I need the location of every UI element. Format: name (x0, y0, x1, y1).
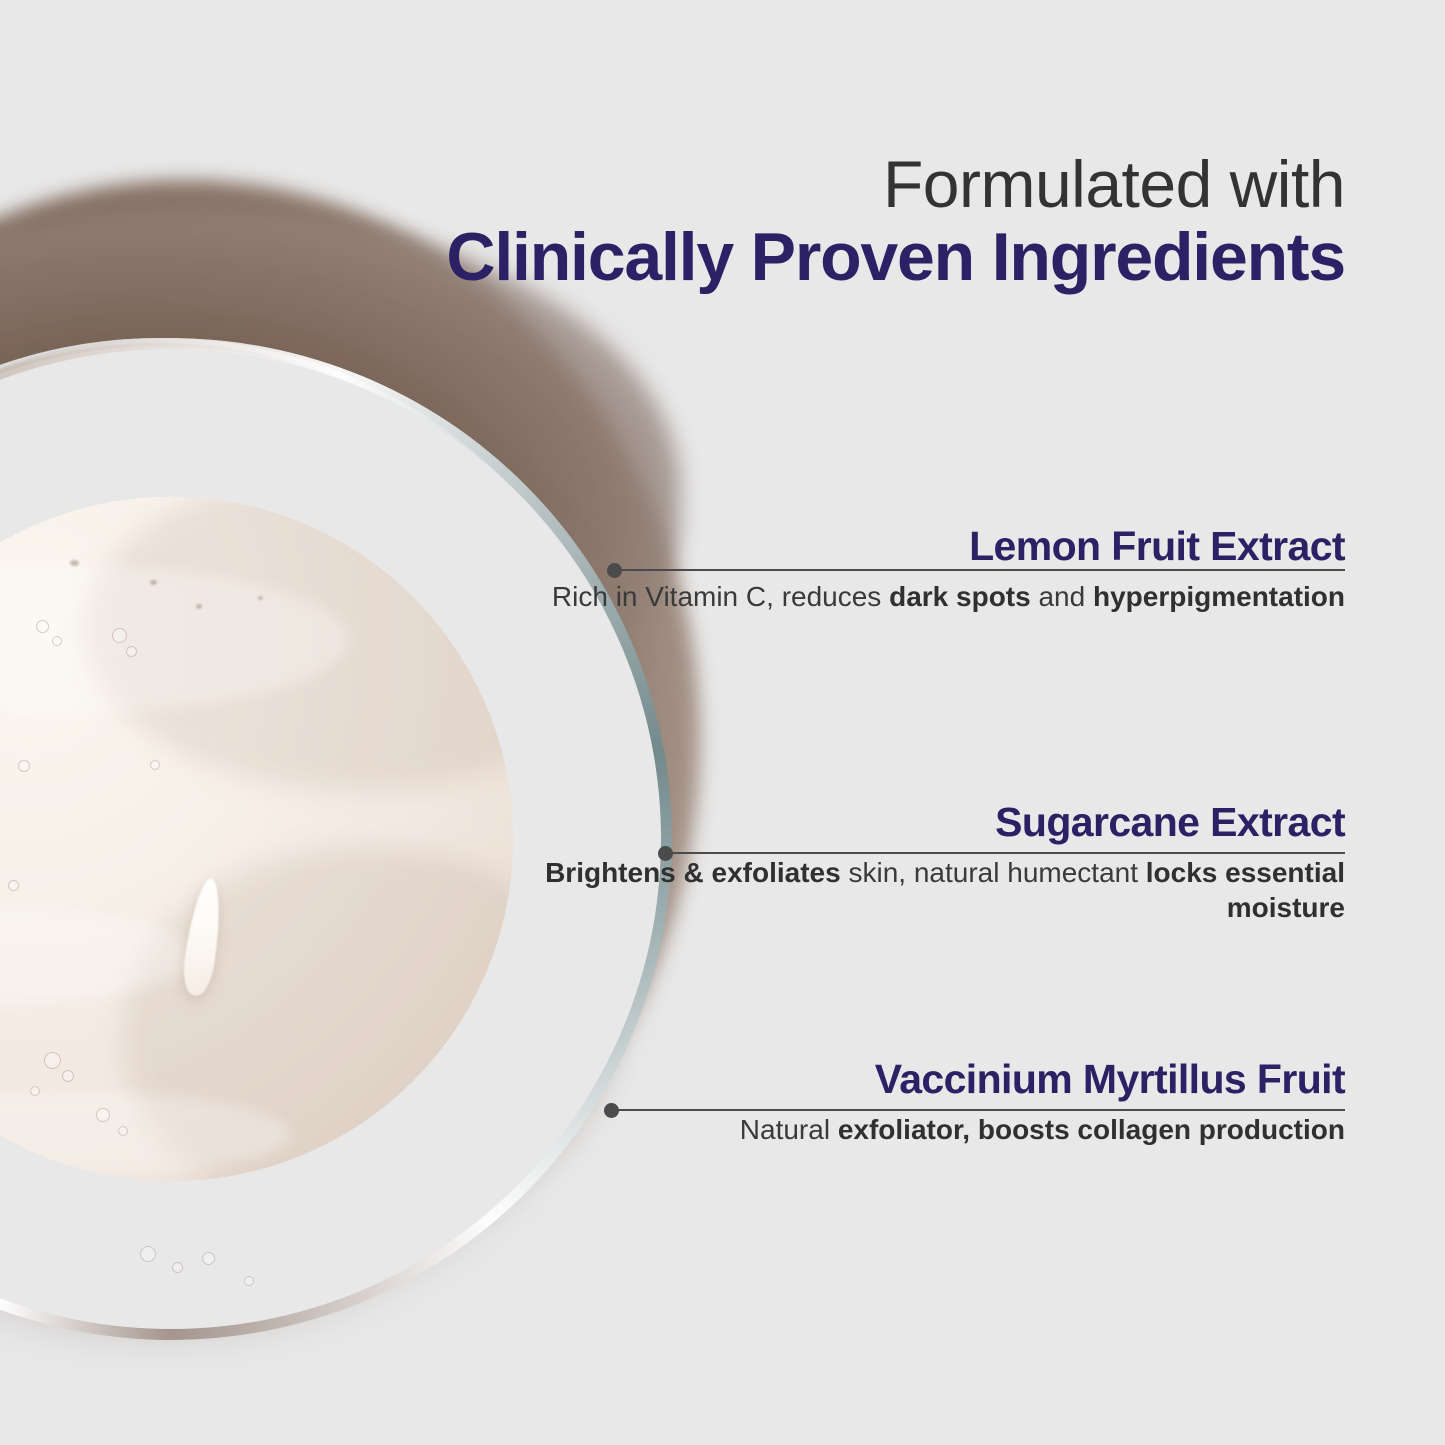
ingredient-title: Sugarcane Extract (445, 800, 1345, 846)
connector-line-sugarcane-extract (658, 845, 1345, 861)
ingredient-description: Rich in Vitamin C, reduces dark spots an… (445, 579, 1345, 614)
infographic-canvas: Formulated with Clinically Proven Ingred… (0, 0, 1445, 1445)
connector-rule (611, 1109, 1345, 1111)
connector-line-vaccinium-myrtillus-fruit (604, 1102, 1345, 1118)
connector-line-lemon-fruit-extract (607, 562, 1345, 578)
ingredient-title: Vaccinium Myrtillus Fruit (445, 1057, 1345, 1103)
headline-line-2: Clinically Proven Ingredients (445, 220, 1345, 295)
page-title: Formulated with Clinically Proven Ingred… (445, 148, 1345, 295)
ingredient-description: Brightens & exfoliates skin, natural hum… (445, 855, 1345, 926)
headline-line-1: Formulated with (445, 148, 1345, 222)
ingredient-callout-sugarcane-extract: Sugarcane Extract Brightens & exfoliates… (445, 800, 1345, 925)
connector-rule (614, 569, 1345, 571)
connector-rule (665, 852, 1345, 854)
